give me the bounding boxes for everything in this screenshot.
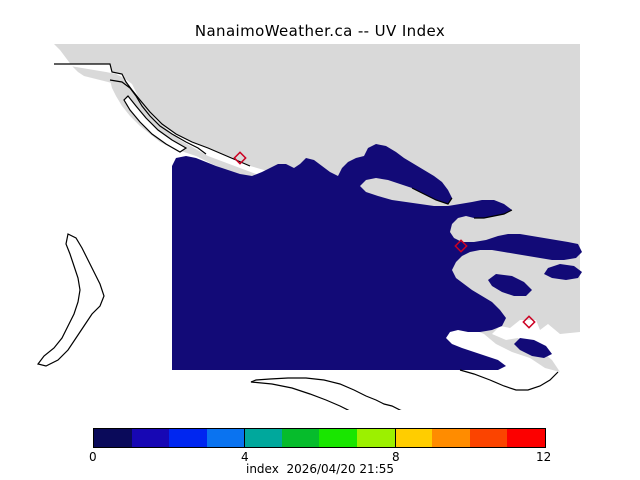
colorbar-segment-5[interactable] <box>244 429 282 447</box>
coast-west-island <box>38 234 104 366</box>
coast-southeast <box>460 370 558 390</box>
uv-data-inlet-south <box>514 338 552 358</box>
colorbar-segment-3[interactable] <box>169 429 207 447</box>
colorbar-segment-11[interactable] <box>470 429 508 447</box>
colorbar-segment-4[interactable] <box>207 429 245 447</box>
colorbar-tick-8 <box>395 428 396 448</box>
uv-colorbar[interactable] <box>93 428 546 448</box>
coast-southern-island <box>251 378 418 410</box>
colorbar-tick-4 <box>244 428 245 448</box>
colorbar-segment-9[interactable] <box>395 429 433 447</box>
colorbar-segment-2[interactable] <box>132 429 170 447</box>
colorbar-segment-7[interactable] <box>319 429 357 447</box>
colorbar-caption: index 2026/04/20 21:55 <box>0 462 640 476</box>
uv-index-map-page: NanaimoWeather.ca -- UV Index <box>0 0 640 480</box>
colorbar-segment-10[interactable] <box>432 429 470 447</box>
map-canvas[interactable] <box>0 38 640 410</box>
colorbar-segment-12[interactable] <box>507 429 545 447</box>
colorbar-segment-6[interactable] <box>282 429 320 447</box>
map-panel[interactable] <box>0 38 640 410</box>
colorbar-segment-1[interactable] <box>94 429 132 447</box>
colorbar-segment-8[interactable] <box>357 429 395 447</box>
